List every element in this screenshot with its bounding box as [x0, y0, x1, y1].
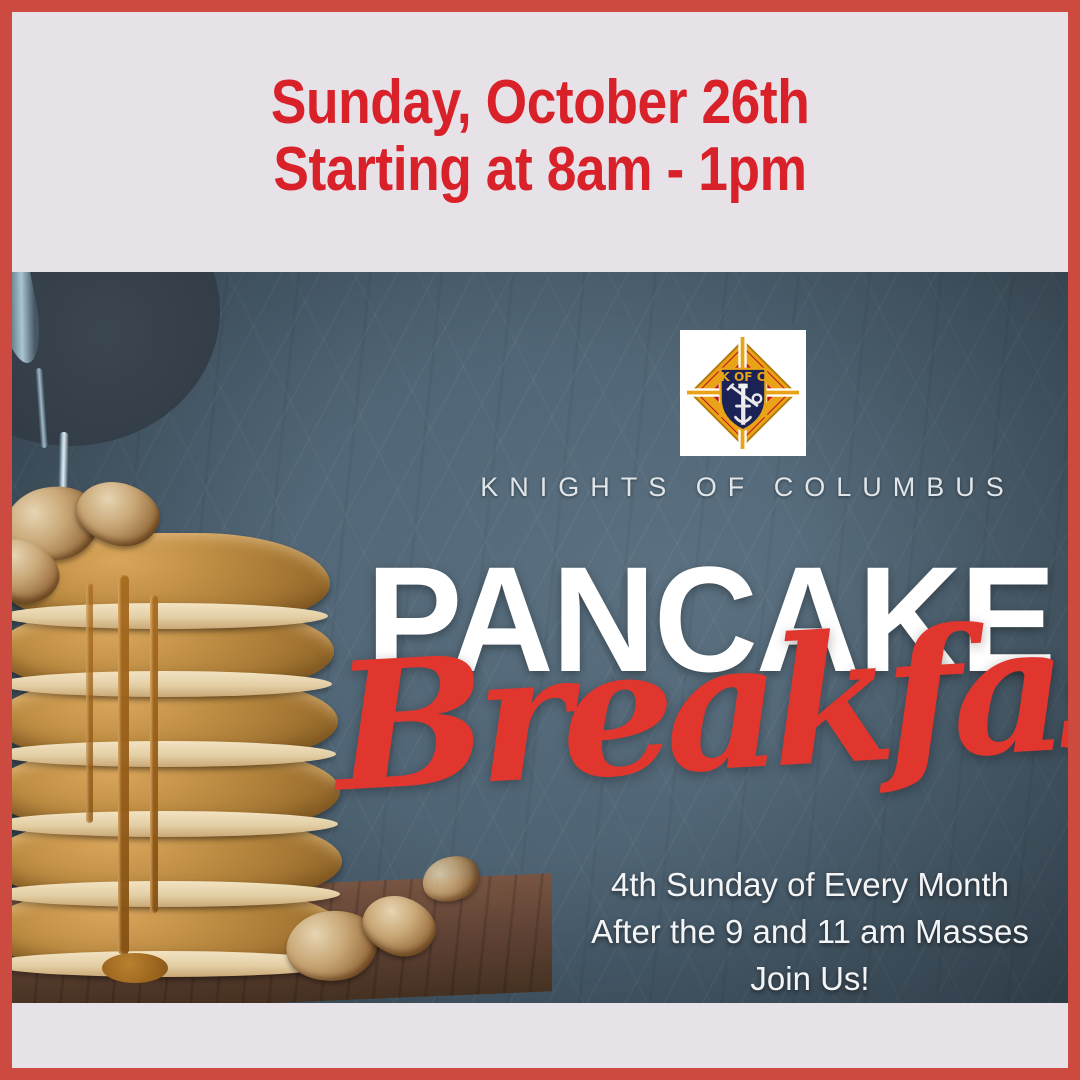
detail-line-masses: After the 9 and 11 am Masses	[552, 909, 1068, 956]
poster-photo: K OF C KNIGHTS OF COLUMBUS PANCAKE Break…	[12, 272, 1068, 1003]
knights-of-columbus-emblem: K OF C	[680, 330, 806, 456]
syrup-drip	[118, 575, 129, 955]
organization-name: KNIGHTS OF COLUMBUS	[442, 472, 1042, 503]
event-time-line: Starting at 8am - 1pm	[273, 137, 806, 204]
poster-title-script: Breakfast	[330, 599, 1068, 816]
syrup-pool	[102, 953, 168, 983]
poster-details: 4th Sunday of Every Month After the 9 an…	[552, 862, 1068, 1003]
detail-line-schedule: 4th Sunday of Every Month	[552, 862, 1068, 909]
pancake-stack	[12, 473, 350, 973]
header-band: Sunday, October 26th Starting at 8am - 1…	[12, 12, 1068, 272]
flyer-frame: Sunday, October 26th Starting at 8am - 1…	[0, 0, 1080, 1080]
footer-band	[12, 1003, 1068, 1068]
emblem-shield-text: K OF C	[720, 370, 765, 384]
syrup-drip	[86, 583, 93, 823]
flyer-canvas: Sunday, October 26th Starting at 8am - 1…	[12, 12, 1068, 1068]
syrup-drip	[150, 595, 158, 913]
pitcher-lip	[12, 272, 47, 367]
event-date-line: Sunday, October 26th	[271, 70, 810, 137]
detail-line-cta: Join Us!	[552, 956, 1068, 1003]
